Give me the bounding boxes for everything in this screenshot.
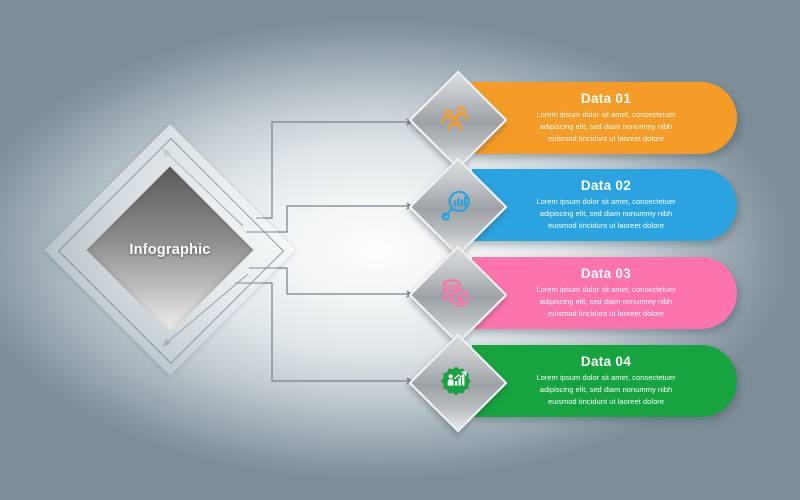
data-bar-4-title: Data 04 <box>581 354 631 369</box>
desc-line: Lorem ipsum dolor sit amet, consectetuer <box>519 109 694 121</box>
desc-line: euismod tincidunt ut laoreet dolore <box>519 308 694 320</box>
desc-line: adipiscing elit, sed diam nonummy nibh <box>519 384 694 396</box>
gear-analytics-icon <box>412 337 500 425</box>
center-node[interactable]: Infographic <box>75 155 265 345</box>
infographic-canvas: Infographic Data 01 Lorem ipsum dolor si… <box>0 0 800 500</box>
data-bar-1-text: Data 01 Lorem ipsum dolor sit amet, cons… <box>480 82 732 154</box>
data-bar-2-text: Data 02 Lorem ipsum dolor sit amet, cons… <box>480 169 732 241</box>
data-bar-4-text: Data 04 Lorem ipsum dolor sit amet, cons… <box>480 345 732 417</box>
data-row-3[interactable]: Data 03 Lorem ipsum dolor sit amet, cons… <box>412 249 737 337</box>
data-row-1[interactable]: Data 01 Lorem ipsum dolor sit amet, cons… <box>412 74 737 162</box>
desc-line: euismod tincidunt ut laoreet dolore <box>519 133 694 145</box>
data-icon-diamond-4[interactable] <box>412 337 500 425</box>
desc-line: Lorem ipsum dolor sit amet, consectetuer <box>519 284 694 296</box>
connector-row-1 <box>256 122 414 218</box>
desc-line: Lorem ipsum dolor sit amet, consectetuer <box>519 196 694 208</box>
data-bar-3-text: Data 03 Lorem ipsum dolor sit amet, cons… <box>480 257 732 329</box>
magnifier-bar-chart-icon-svg <box>439 188 473 222</box>
data-bar-3-title: Data 03 <box>581 266 631 281</box>
data-bar-4-desc: Lorem ipsum dolor sit amet, consectetuer… <box>519 372 694 407</box>
team-group-icon <box>412 74 500 162</box>
data-bar-1-title: Data 01 <box>581 91 631 106</box>
money-coins-icon-svg <box>439 276 473 310</box>
desc-line: adipiscing elit, sed diam nonummy nibh <box>519 296 694 308</box>
desc-line: adipiscing elit, sed diam nonummy nibh <box>519 121 694 133</box>
desc-line: euismod tincidunt ut laoreet dolore <box>519 396 694 408</box>
team-group-icon-svg <box>439 101 473 135</box>
desc-line: adipiscing elit, sed diam nonummy nibh <box>519 208 694 220</box>
gear-analytics-icon-svg <box>439 364 473 398</box>
data-row-2[interactable]: Data 02 Lorem ipsum dolor sit amet, cons… <box>412 161 737 249</box>
desc-line: euismod tincidunt ut laoreet dolore <box>519 220 694 232</box>
data-bar-1-desc: Lorem ipsum dolor sit amet, consectetuer… <box>519 109 694 144</box>
data-icon-diamond-3[interactable] <box>412 249 500 337</box>
data-icon-diamond-2[interactable] <box>412 161 500 249</box>
data-icon-diamond-1[interactable] <box>412 74 500 162</box>
data-bar-2-desc: Lorem ipsum dolor sit amet, consectetuer… <box>519 196 694 231</box>
gear-body <box>441 366 471 395</box>
magnifier-bar-chart-icon <box>412 161 500 249</box>
desc-line: Lorem ipsum dolor sit amet, consectetuer <box>519 372 694 384</box>
data-bar-3-desc: Lorem ipsum dolor sit amet, consectetuer… <box>519 284 694 319</box>
money-coins-icon <box>412 249 500 337</box>
data-row-4[interactable]: Data 04 Lorem ipsum dolor sit amet, cons… <box>412 337 737 425</box>
data-bar-2-title: Data 02 <box>581 178 631 193</box>
